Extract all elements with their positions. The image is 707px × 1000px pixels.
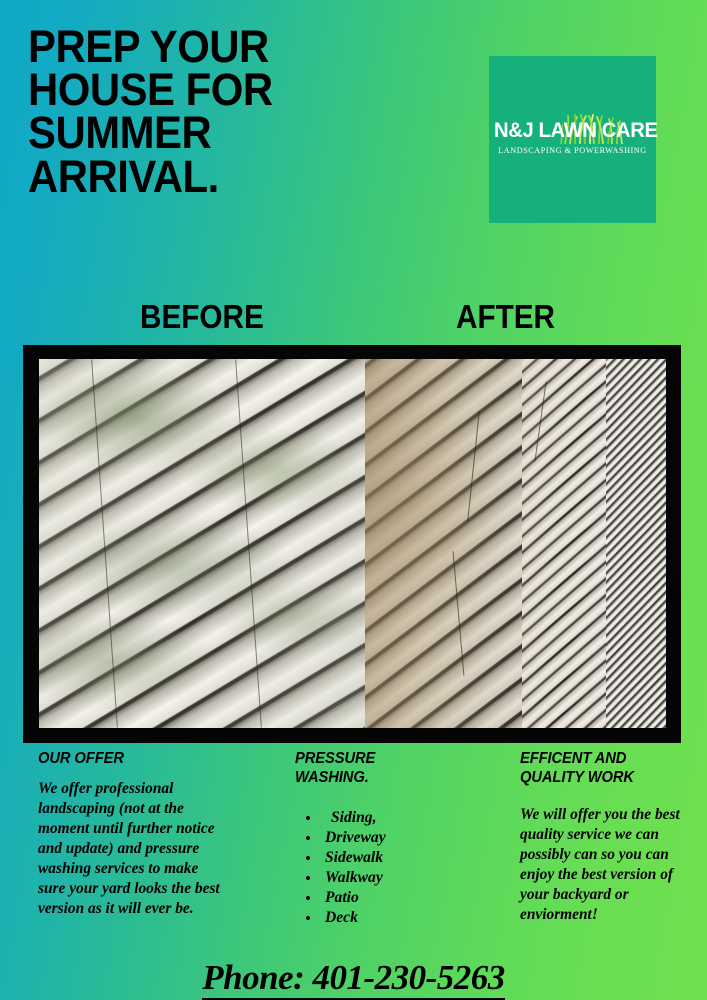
after-photo-clean-siding — [365, 359, 666, 728]
before-photo-dirty-siding — [39, 359, 365, 728]
column-quality-work: EFFICENT AND QUALITY WORK We will offer … — [520, 750, 698, 925]
logo-text-block: N&J LAWN CARE LANDSCAPING & POWERWASHING — [489, 118, 656, 155]
company-logo: N&J LAWN CARE LANDSCAPING & POWERWASHING — [489, 56, 656, 223]
after-label: AFTER — [456, 298, 555, 336]
logo-name: N&J LAWN CARE — [494, 118, 651, 143]
contact-phone[interactable]: Phone: 401-230-5263 — [0, 958, 707, 998]
column-body: We offer professional landscaping (not a… — [38, 779, 228, 919]
info-columns: OUR OFFER We offer professional landscap… — [0, 750, 707, 960]
list-item: Driveway — [321, 828, 495, 848]
before-after-photo-frame — [23, 345, 681, 743]
list-item: Walkway — [321, 868, 495, 888]
list-item: Sidewalk — [321, 848, 495, 868]
column-title: OUR OFFER — [38, 750, 219, 769]
column-pressure-washing: PRESSURE WASHING. Siding, Driveway Sidew… — [295, 750, 495, 928]
phone-text: Phone: 401-230-5263 — [202, 958, 505, 1000]
list-item: Patio — [321, 888, 495, 908]
list-item: Siding, — [321, 808, 495, 828]
moss-stain-overlay — [39, 359, 365, 728]
clean-tone-overlay — [365, 359, 666, 728]
before-after-photo — [39, 359, 666, 728]
column-title: EFFICENT AND QUALITY WORK — [520, 750, 689, 788]
column-title: PRESSURE WASHING. — [295, 750, 485, 788]
page-title: PREP YOUR HOUSE FOR SUMMER ARRIVAL. — [28, 25, 381, 198]
poster-root: PREP YOUR HOUSE FOR SUMMER ARRIVAL. — [0, 0, 707, 1000]
logo-tagline: LANDSCAPING & POWERWASHING — [489, 146, 656, 155]
list-item: Deck — [321, 908, 495, 928]
column-body: We will offer you the best quality servi… — [520, 805, 698, 925]
before-label: BEFORE — [140, 298, 264, 336]
services-list: Siding, Driveway Sidewalk Walkway Patio … — [295, 808, 495, 928]
column-our-offer: OUR OFFER We offer professional landscap… — [38, 750, 228, 919]
